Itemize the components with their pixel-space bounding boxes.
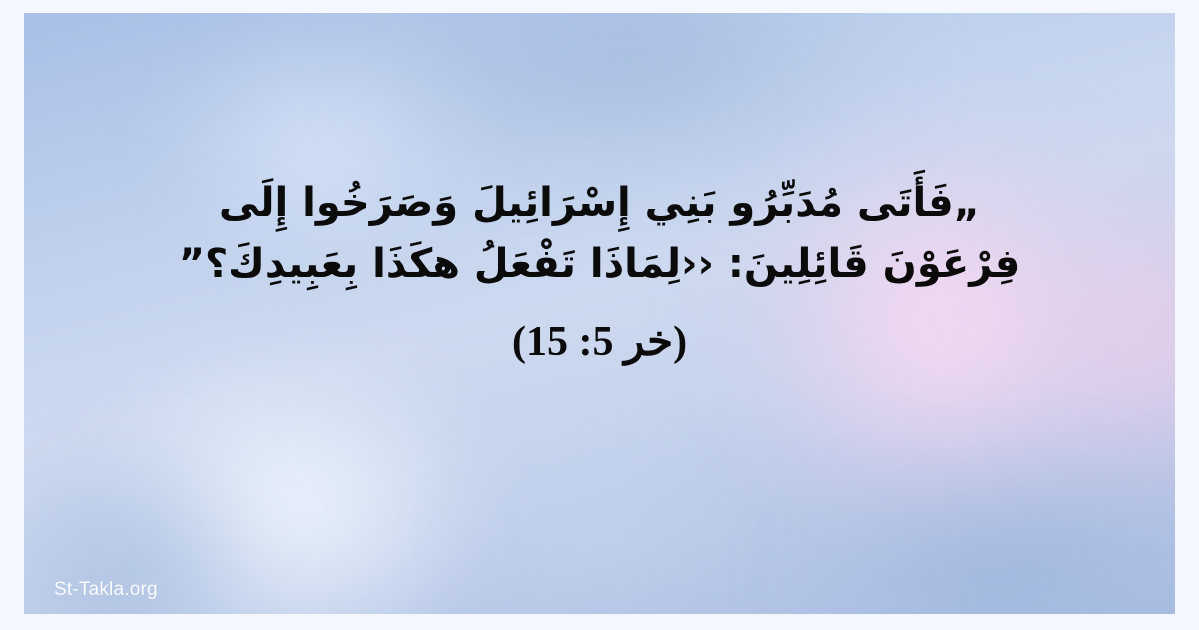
photo-panel: „فَأَتَى مُدَبِّرُو بَنِي إِسْرَائِيلَ و… xyxy=(24,13,1175,614)
background-blob-bottom-right xyxy=(784,453,1175,614)
verse-reference: (خر 5: 15) xyxy=(24,317,1175,367)
background-blob-top-shade xyxy=(354,13,914,183)
bible-verse-block: „فَأَتَى مُدَبِّرُو بَنِي إِسْرَائِيلَ و… xyxy=(24,173,1175,367)
verse-line-2: فِرْعَوْنَ قَائِلِينَ: ‹‹لِمَاذَا تَفْعَ… xyxy=(24,234,1175,295)
site-watermark: St-Takla.org xyxy=(52,578,160,602)
verse-line-1: „فَأَتَى مُدَبِّرُو بَنِي إِسْرَائِيلَ و… xyxy=(24,173,1175,234)
background-blob-mid-smudge xyxy=(444,433,744,614)
verse-image-canvas: „فَأَتَى مُدَبِّرُو بَنِي إِسْرَائِيلَ و… xyxy=(0,0,1199,630)
background-blob-white-bokeh xyxy=(79,343,499,614)
